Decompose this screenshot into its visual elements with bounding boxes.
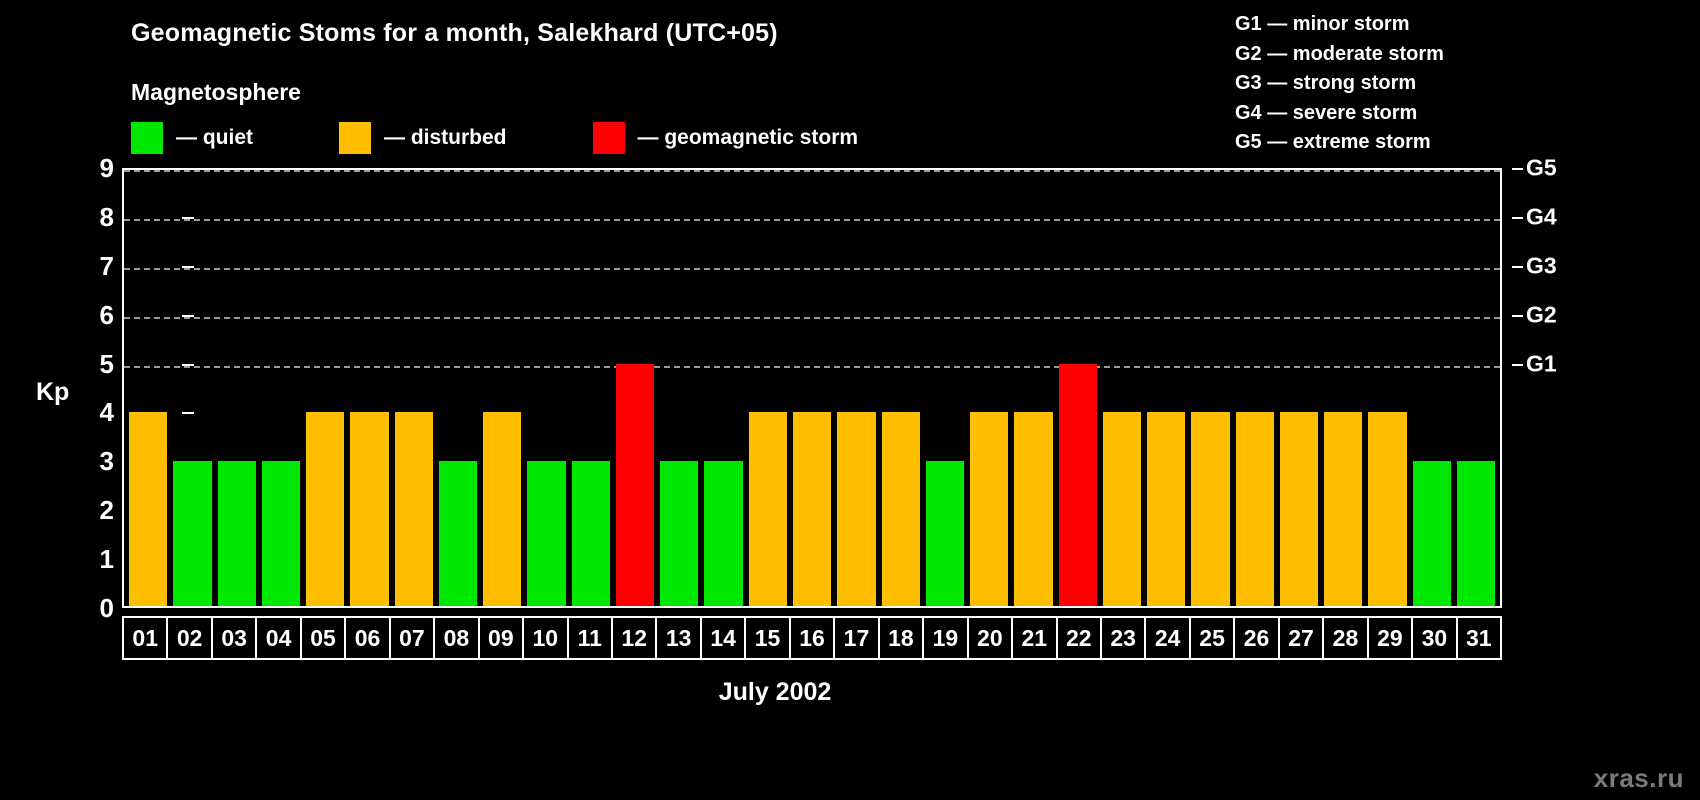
g-tick-label-G3: G3 <box>1526 254 1557 277</box>
bar-day-10 <box>527 461 565 606</box>
bar-day-18 <box>882 412 920 606</box>
day-label-02: 02 <box>168 618 212 658</box>
g-scale-axis: G1G2G3G4G5 <box>1512 168 1592 608</box>
y-tick-label-5: 5 <box>100 351 114 377</box>
bar-day-24 <box>1147 412 1185 606</box>
day-label-03: 03 <box>213 618 257 658</box>
g-scale-row-g2: G2 — moderate storm <box>1235 40 1444 70</box>
bar-slot-27 <box>1277 172 1321 606</box>
bar-day-01 <box>129 412 167 606</box>
day-label-25: 25 <box>1191 618 1235 658</box>
g-scale-row-g4: G4 — severe storm <box>1235 99 1444 129</box>
day-label-07: 07 <box>391 618 435 658</box>
bar-slot-28 <box>1321 172 1365 606</box>
bar-slot-31 <box>1454 172 1498 606</box>
bar-day-15 <box>749 412 787 606</box>
bar-day-22 <box>1059 364 1097 606</box>
bar-slot-08 <box>436 172 480 606</box>
watermark: xras.ru <box>1594 763 1684 794</box>
g-tick-label-G2: G2 <box>1526 303 1557 326</box>
bar-slot-13 <box>657 172 701 606</box>
bar-slot-07 <box>392 172 436 606</box>
legend-label-disturbed: — disturbed <box>384 126 507 150</box>
bar-slot-09 <box>480 172 524 606</box>
day-label-06: 06 <box>346 618 390 658</box>
g-tick-mark-G4 <box>1512 217 1523 219</box>
legend-item-disturbed: — disturbed <box>339 122 507 154</box>
bar-day-11 <box>572 461 610 606</box>
day-label-17: 17 <box>835 618 879 658</box>
bar-day-27 <box>1280 412 1318 606</box>
day-label-31: 31 <box>1458 618 1500 658</box>
bar-slot-02 <box>170 172 214 606</box>
bar-slot-11 <box>569 172 613 606</box>
legend-item-geomagnetic-storm: — geomagnetic storm <box>593 122 859 154</box>
day-label-01: 01 <box>124 618 168 658</box>
legend: — quiet — disturbed — geomagnetic storm <box>131 122 858 154</box>
bar-slot-29 <box>1365 172 1409 606</box>
legend-swatch-quiet-icon <box>131 122 163 154</box>
day-label-24: 24 <box>1146 618 1190 658</box>
day-label-26: 26 <box>1235 618 1279 658</box>
bar-slot-01 <box>126 172 170 606</box>
bar-slot-26 <box>1233 172 1277 606</box>
bar-slot-12 <box>613 172 657 606</box>
day-label-19: 19 <box>924 618 968 658</box>
y-tick-label-1: 1 <box>100 546 114 572</box>
y-tick-label-0: 0 <box>100 595 114 621</box>
bar-slot-22 <box>1056 172 1100 606</box>
bar-day-05 <box>306 412 344 606</box>
x-axis-day-labels: 0102030405060708091011121314151617181920… <box>122 616 1502 660</box>
day-label-08: 08 <box>435 618 479 658</box>
bar-slot-10 <box>524 172 568 606</box>
bar-slot-30 <box>1410 172 1454 606</box>
day-label-09: 09 <box>480 618 524 658</box>
bar-day-19 <box>926 461 964 606</box>
y-tick-label-6: 6 <box>100 302 114 328</box>
bar-day-07 <box>395 412 433 606</box>
bar-slot-20 <box>967 172 1011 606</box>
day-label-15: 15 <box>746 618 790 658</box>
y-tick-label-9: 9 <box>100 155 114 181</box>
g-tick-label-G4: G4 <box>1526 205 1557 228</box>
bar-slot-18 <box>879 172 923 606</box>
g-tick-mark-G3 <box>1512 266 1523 268</box>
bar-day-04 <box>262 461 300 606</box>
day-label-21: 21 <box>1013 618 1057 658</box>
day-label-05: 05 <box>302 618 346 658</box>
day-label-29: 29 <box>1369 618 1413 658</box>
legend-swatch-geomagnetic-storm-icon <box>593 122 625 154</box>
bar-day-21 <box>1014 412 1052 606</box>
bar-day-25 <box>1191 412 1229 606</box>
y-tick-label-4: 4 <box>100 399 114 425</box>
bar-day-23 <box>1103 412 1141 606</box>
day-label-20: 20 <box>969 618 1013 658</box>
bar-day-20 <box>970 412 1008 606</box>
bar-day-02 <box>173 461 211 606</box>
day-label-23: 23 <box>1102 618 1146 658</box>
bar-day-08 <box>439 461 477 606</box>
g-tick-label-G1: G1 <box>1526 352 1557 375</box>
bar-slot-04 <box>259 172 303 606</box>
g-tick-label-G5: G5 <box>1526 157 1557 180</box>
bar-day-13 <box>660 461 698 606</box>
bar-slot-23 <box>1100 172 1144 606</box>
bar-day-28 <box>1324 412 1362 606</box>
y-tick-label-8: 8 <box>100 204 114 230</box>
page-title: Geomagnetic Stoms for a month, Salekhard… <box>131 19 778 48</box>
legend-label-quiet: — quiet <box>176 126 253 150</box>
bar-day-14 <box>704 461 742 606</box>
legend-label-geomagnetic-storm: — geomagnetic storm <box>638 126 859 150</box>
bar-slot-03 <box>215 172 259 606</box>
g-scale-row-g3: G3 — strong storm <box>1235 69 1444 99</box>
day-label-13: 13 <box>657 618 701 658</box>
bar-day-31 <box>1457 461 1495 606</box>
bar-slot-06 <box>347 172 391 606</box>
bar-slot-19 <box>923 172 967 606</box>
x-axis-title-text: July 2002 <box>719 678 832 706</box>
day-label-27: 27 <box>1280 618 1324 658</box>
y-axis: 0123456789 <box>70 168 114 608</box>
day-label-14: 14 <box>702 618 746 658</box>
bar-day-30 <box>1413 461 1451 606</box>
g-tick-mark-G2 <box>1512 315 1523 317</box>
day-label-18: 18 <box>880 618 924 658</box>
day-label-10: 10 <box>524 618 568 658</box>
bar-slot-24 <box>1144 172 1188 606</box>
day-label-28: 28 <box>1324 618 1368 658</box>
bar-slot-25 <box>1188 172 1232 606</box>
x-axis-title: July 2002 <box>0 678 1700 707</box>
day-label-04: 04 <box>257 618 301 658</box>
g-tick-mark-G1 <box>1512 364 1523 366</box>
day-label-22: 22 <box>1058 618 1102 658</box>
bar-slot-17 <box>834 172 878 606</box>
bar-slot-05 <box>303 172 347 606</box>
legend-item-quiet: — quiet <box>131 122 253 154</box>
legend-swatch-disturbed-icon <box>339 122 371 154</box>
bar-day-17 <box>837 412 875 606</box>
day-label-12: 12 <box>613 618 657 658</box>
bar-slot-15 <box>746 172 790 606</box>
y-tick-label-7: 7 <box>100 253 114 279</box>
g-tick-mark-G5 <box>1512 168 1523 170</box>
bar-day-16 <box>793 412 831 606</box>
g-scale-legend: G1 — minor storm G2 — moderate storm G3 … <box>1235 10 1444 158</box>
bar-slot-16 <box>790 172 834 606</box>
bar-day-29 <box>1368 412 1406 606</box>
bar-day-12 <box>616 364 654 606</box>
day-label-11: 11 <box>569 618 613 658</box>
y-axis-title: Kp <box>36 378 69 407</box>
g-scale-row-g1: G1 — minor storm <box>1235 10 1444 40</box>
plot-area <box>122 168 1502 608</box>
y-tick-label-3: 3 <box>100 448 114 474</box>
bar-day-06 <box>350 412 388 606</box>
bar-series <box>126 172 1498 606</box>
g-scale-row-g5: G5 — extreme storm <box>1235 128 1444 158</box>
day-label-16: 16 <box>791 618 835 658</box>
bar-slot-14 <box>701 172 745 606</box>
day-label-30: 30 <box>1413 618 1457 658</box>
legend-heading: Magnetosphere <box>131 79 301 106</box>
bar-slot-21 <box>1011 172 1055 606</box>
bar-day-03 <box>218 461 256 606</box>
bar-day-26 <box>1236 412 1274 606</box>
bar-day-09 <box>483 412 521 606</box>
y-tick-label-2: 2 <box>100 497 114 523</box>
